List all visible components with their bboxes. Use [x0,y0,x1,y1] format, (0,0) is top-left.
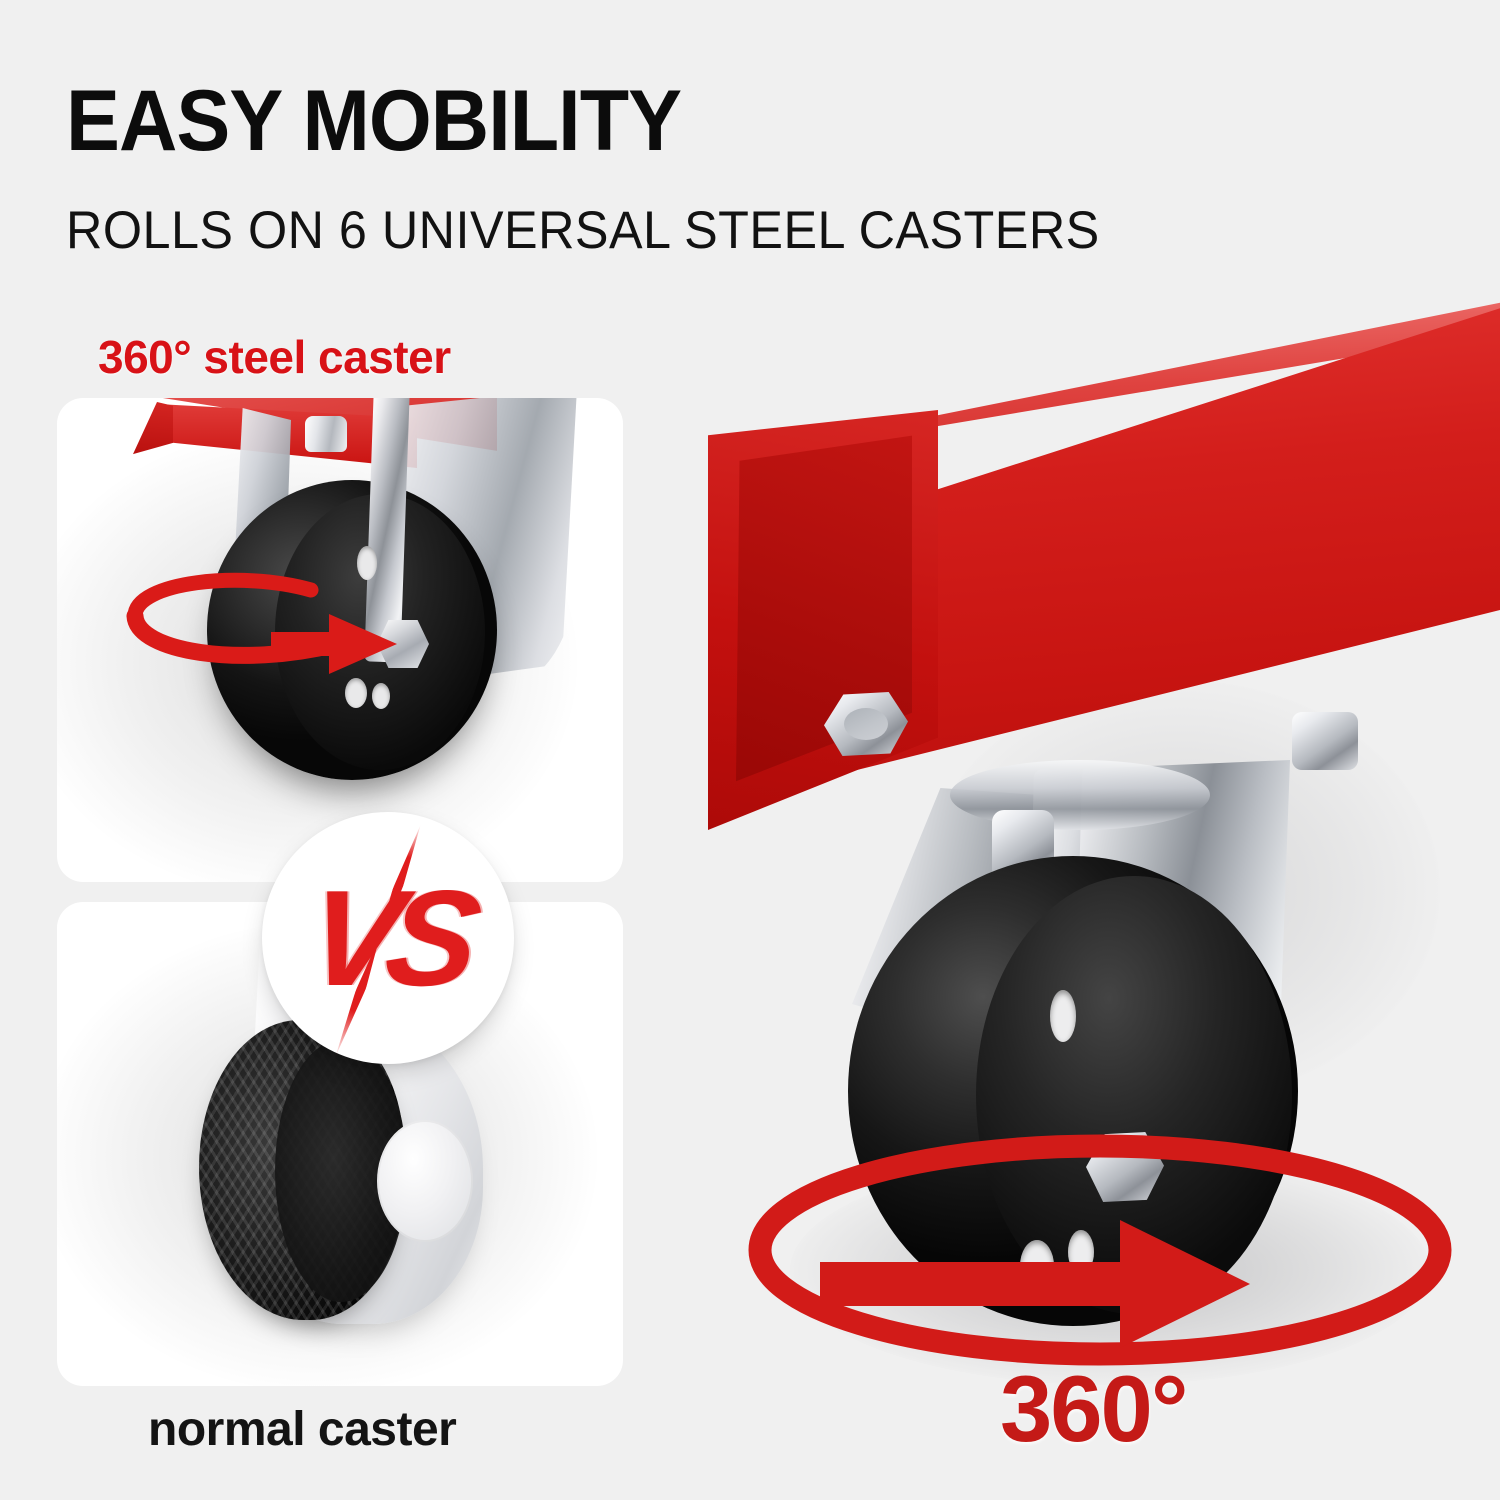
rotation-arrow-icon [820,1206,1340,1366]
wheel-hole [372,683,390,709]
vs-label: VS [244,812,531,1064]
infographic-canvas: EASY MOBILITY ROLLS ON 6 UNIVERSAL STEEL… [0,0,1500,1500]
wheel-hole [357,546,377,580]
swivel-raceway [950,760,1210,830]
wheel-hole [1050,990,1076,1042]
vs-badge: VS [262,812,514,1064]
wheel-hole [345,678,367,708]
rotation-degree-label: 360° [1000,1355,1186,1463]
wheel-hub-cap [377,1120,473,1242]
main-product-photo [620,120,1500,1500]
beam-side-bolt [1292,712,1358,770]
steel-caster-label: 360° steel caster [98,330,451,384]
normal-caster-label: normal caster [148,1402,456,1457]
page-title: EASY MOBILITY [66,78,681,164]
mount-bolt [305,416,347,452]
beam-end-nut-inner [844,708,888,740]
steel-caster-card [57,398,623,882]
